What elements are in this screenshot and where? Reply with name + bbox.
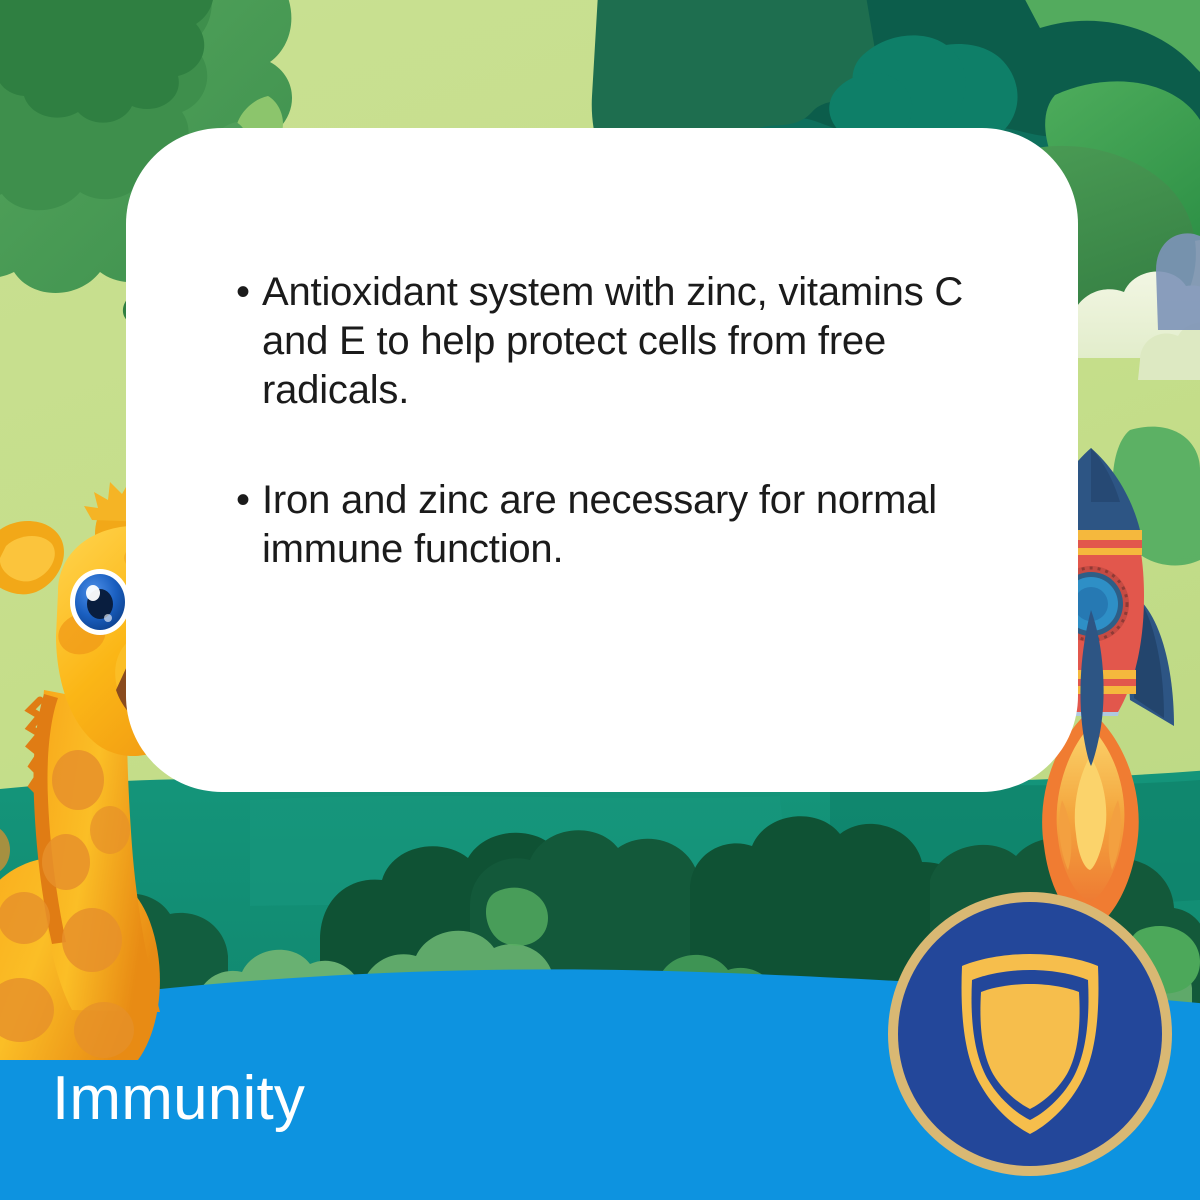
bullet-marker-icon: • — [236, 268, 262, 317]
bullet-list: • Antioxidant system with zinc, vitamins… — [236, 268, 976, 574]
list-item: • Antioxidant system with zinc, vitamins… — [236, 268, 976, 414]
list-item: • Iron and zinc are necessary for normal… — [236, 476, 976, 574]
bullet-text: Antioxidant system with zinc, vitamins C… — [262, 268, 976, 414]
bullet-marker-icon: • — [236, 476, 262, 525]
status-badge — [884, 888, 1176, 1180]
content-card: • Antioxidant system with zinc, vitamins… — [126, 128, 1078, 792]
bullet-text: Iron and zinc are necessary for normal i… — [262, 476, 976, 574]
slide-canvas: • Antioxidant system with zinc, vitamins… — [0, 0, 1200, 1200]
page-title: Immunity — [52, 1068, 305, 1130]
